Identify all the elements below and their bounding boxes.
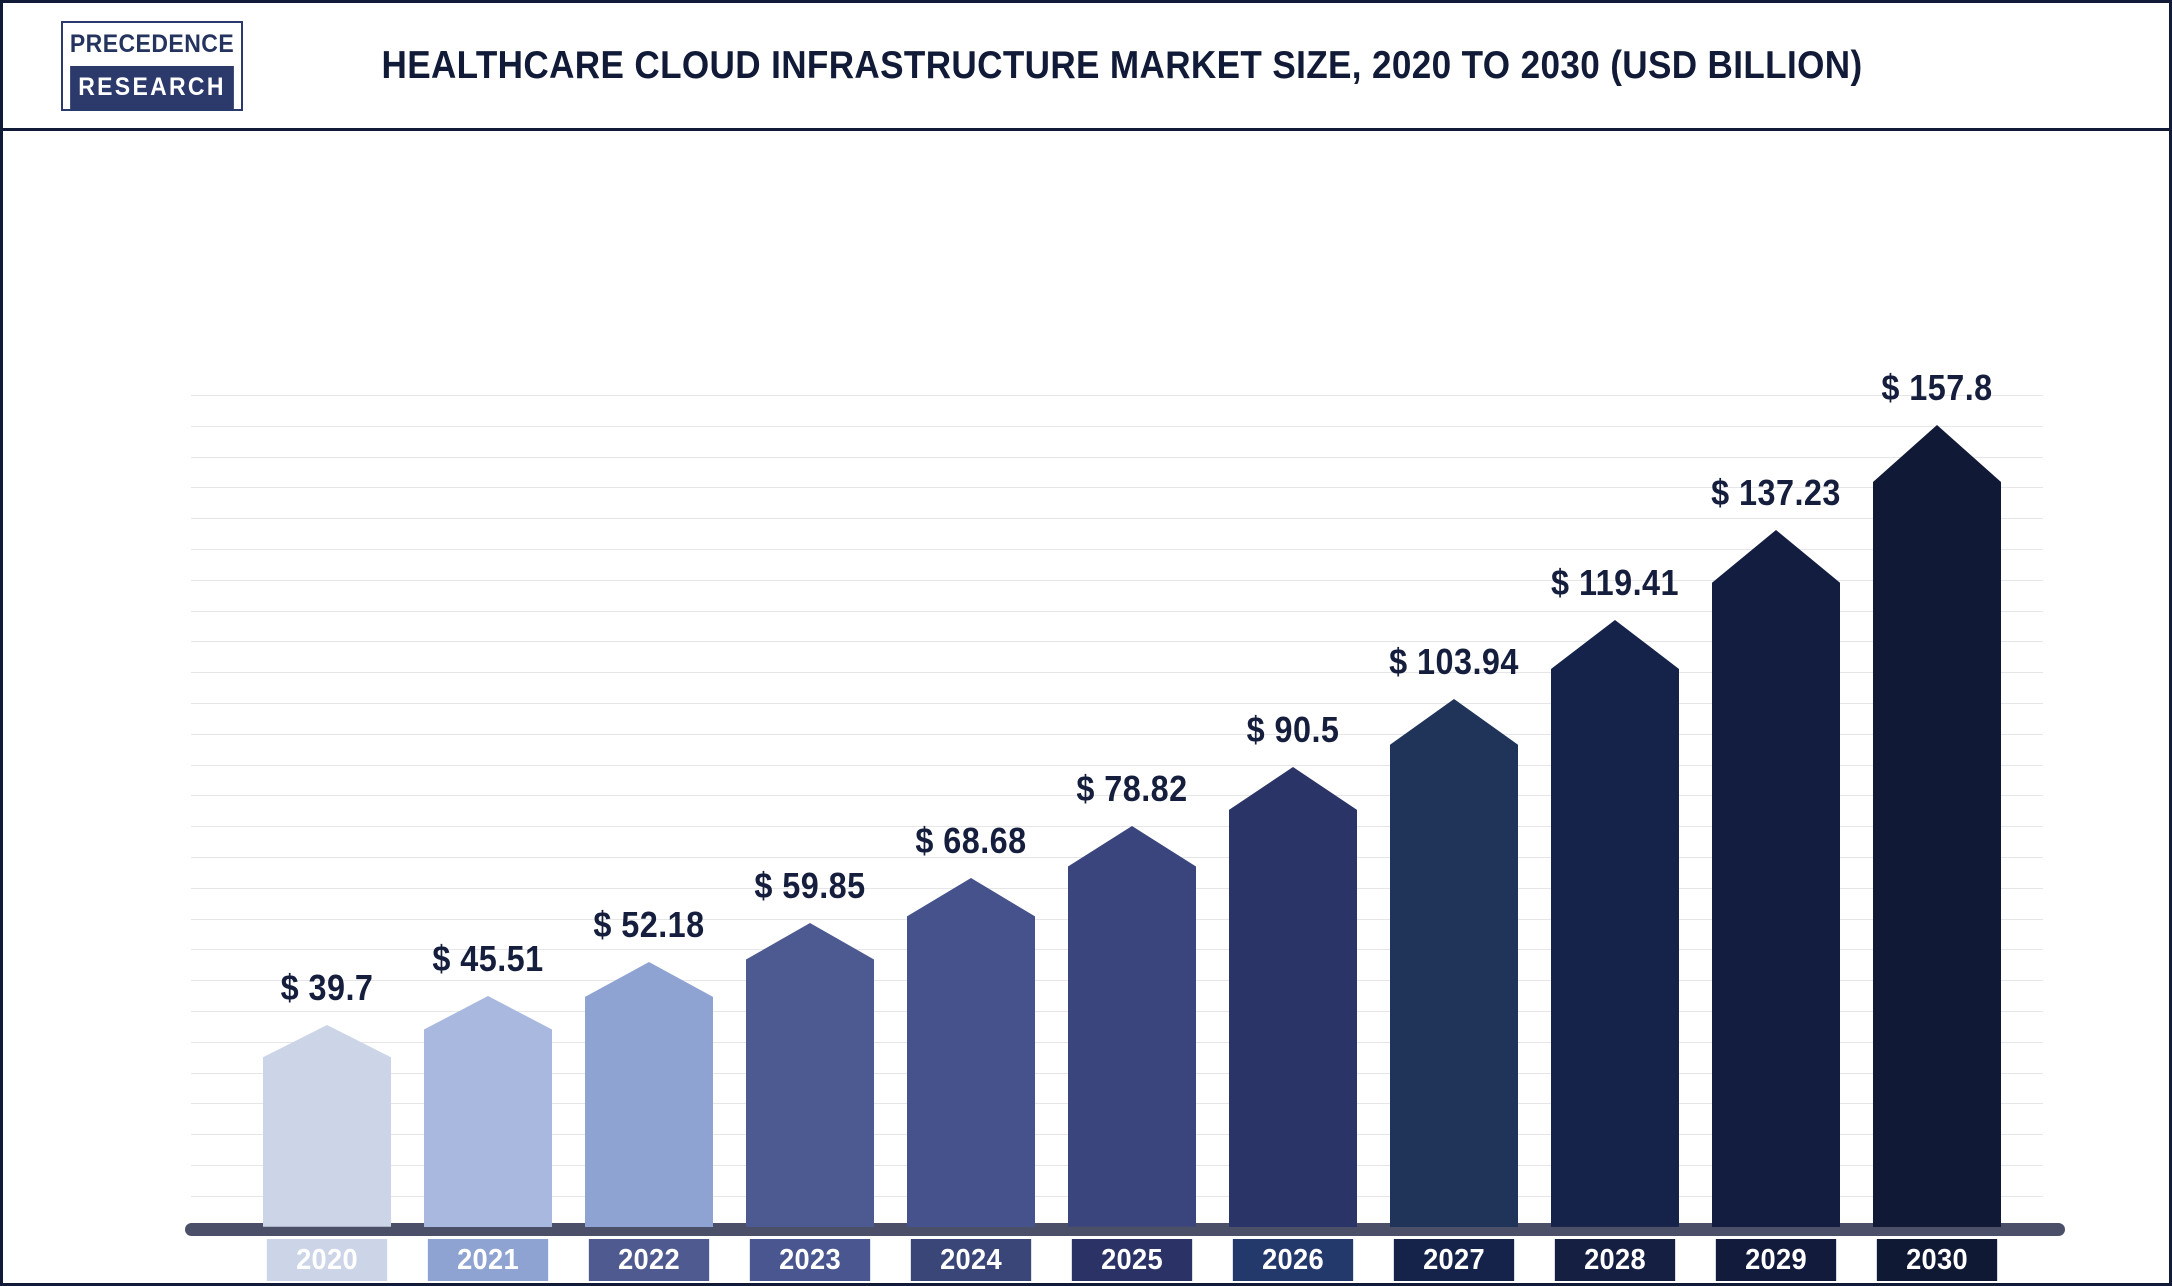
- bar-group[interactable]: $ 119.412028: [1551, 131, 1679, 1281]
- chart-bars-layer: $ 39.72020$ 45.512021$ 52.182022$ 59.852…: [3, 131, 2172, 1281]
- bar-value-label: $ 157.8: [1881, 367, 1992, 409]
- bar-shape: [1873, 425, 2001, 1227]
- bar-group[interactable]: $ 52.182022: [585, 131, 713, 1281]
- bar-value-label: $ 103.94: [1389, 641, 1519, 683]
- page-header: PRECEDENCE RESEARCH HEALTHCARE CLOUD INF…: [3, 3, 2169, 131]
- bar-group[interactable]: $ 39.72020: [263, 131, 391, 1281]
- bar-shape: [263, 1025, 391, 1227]
- page-title: HEALTHCARE CLOUD INFRASTRUCTURE MARKET S…: [111, 44, 2060, 88]
- bar-shape: [1551, 620, 1679, 1227]
- bar-shape: [1390, 699, 1518, 1227]
- bar-shape: [424, 996, 552, 1227]
- bar-shape: [746, 923, 874, 1227]
- x-axis-year-label[interactable]: 2021: [428, 1239, 548, 1281]
- x-axis-year-label[interactable]: 2026: [1233, 1239, 1353, 1281]
- x-axis-year-label[interactable]: 2028: [1555, 1239, 1675, 1281]
- bar-value-label: $ 39.7: [281, 967, 374, 1009]
- bar-value-label: $ 59.85: [754, 865, 865, 907]
- bar-shape: [907, 878, 1035, 1227]
- bar-group[interactable]: $ 90.52026: [1229, 131, 1357, 1281]
- x-axis-year-label[interactable]: 2030: [1877, 1239, 1997, 1281]
- bar-group[interactable]: $ 45.512021: [424, 131, 552, 1281]
- x-axis-year-label[interactable]: 2022: [589, 1239, 709, 1281]
- bar-chart: $ 39.72020$ 45.512021$ 52.182022$ 59.852…: [3, 131, 2172, 1281]
- x-axis-year-label[interactable]: 2023: [750, 1239, 870, 1281]
- bar-shape: [585, 962, 713, 1227]
- x-axis-year-label[interactable]: 2020: [267, 1239, 387, 1281]
- bar-shape: [1712, 530, 1840, 1227]
- x-axis-year-label[interactable]: 2029: [1716, 1239, 1836, 1281]
- bar-value-label: $ 45.51: [432, 938, 543, 980]
- bar-value-label: $ 90.5: [1247, 709, 1340, 751]
- bar-value-label: $ 52.18: [593, 904, 704, 946]
- bar-value-label: $ 78.82: [1076, 768, 1187, 810]
- chart-page: PRECEDENCE RESEARCH HEALTHCARE CLOUD INF…: [0, 0, 2172, 1286]
- bar-group[interactable]: $ 59.852023: [746, 131, 874, 1281]
- x-axis-year-label[interactable]: 2024: [911, 1239, 1031, 1281]
- bar-group[interactable]: $ 78.822025: [1068, 131, 1196, 1281]
- bar-group[interactable]: $ 68.682024: [907, 131, 1035, 1281]
- bar-value-label: $ 68.68: [915, 820, 1026, 862]
- x-axis-year-label[interactable]: 2025: [1072, 1239, 1192, 1281]
- bar-group[interactable]: $ 103.942027: [1390, 131, 1518, 1281]
- bar-value-label: $ 137.23: [1711, 472, 1841, 514]
- bar-value-label: $ 119.41: [1551, 562, 1679, 604]
- bar-shape: [1229, 767, 1357, 1227]
- bar-shape: [1068, 826, 1196, 1227]
- bar-group[interactable]: $ 137.232029: [1712, 131, 1840, 1281]
- x-axis-year-label[interactable]: 2027: [1394, 1239, 1514, 1281]
- bar-group[interactable]: $ 157.82030: [1873, 131, 2001, 1281]
